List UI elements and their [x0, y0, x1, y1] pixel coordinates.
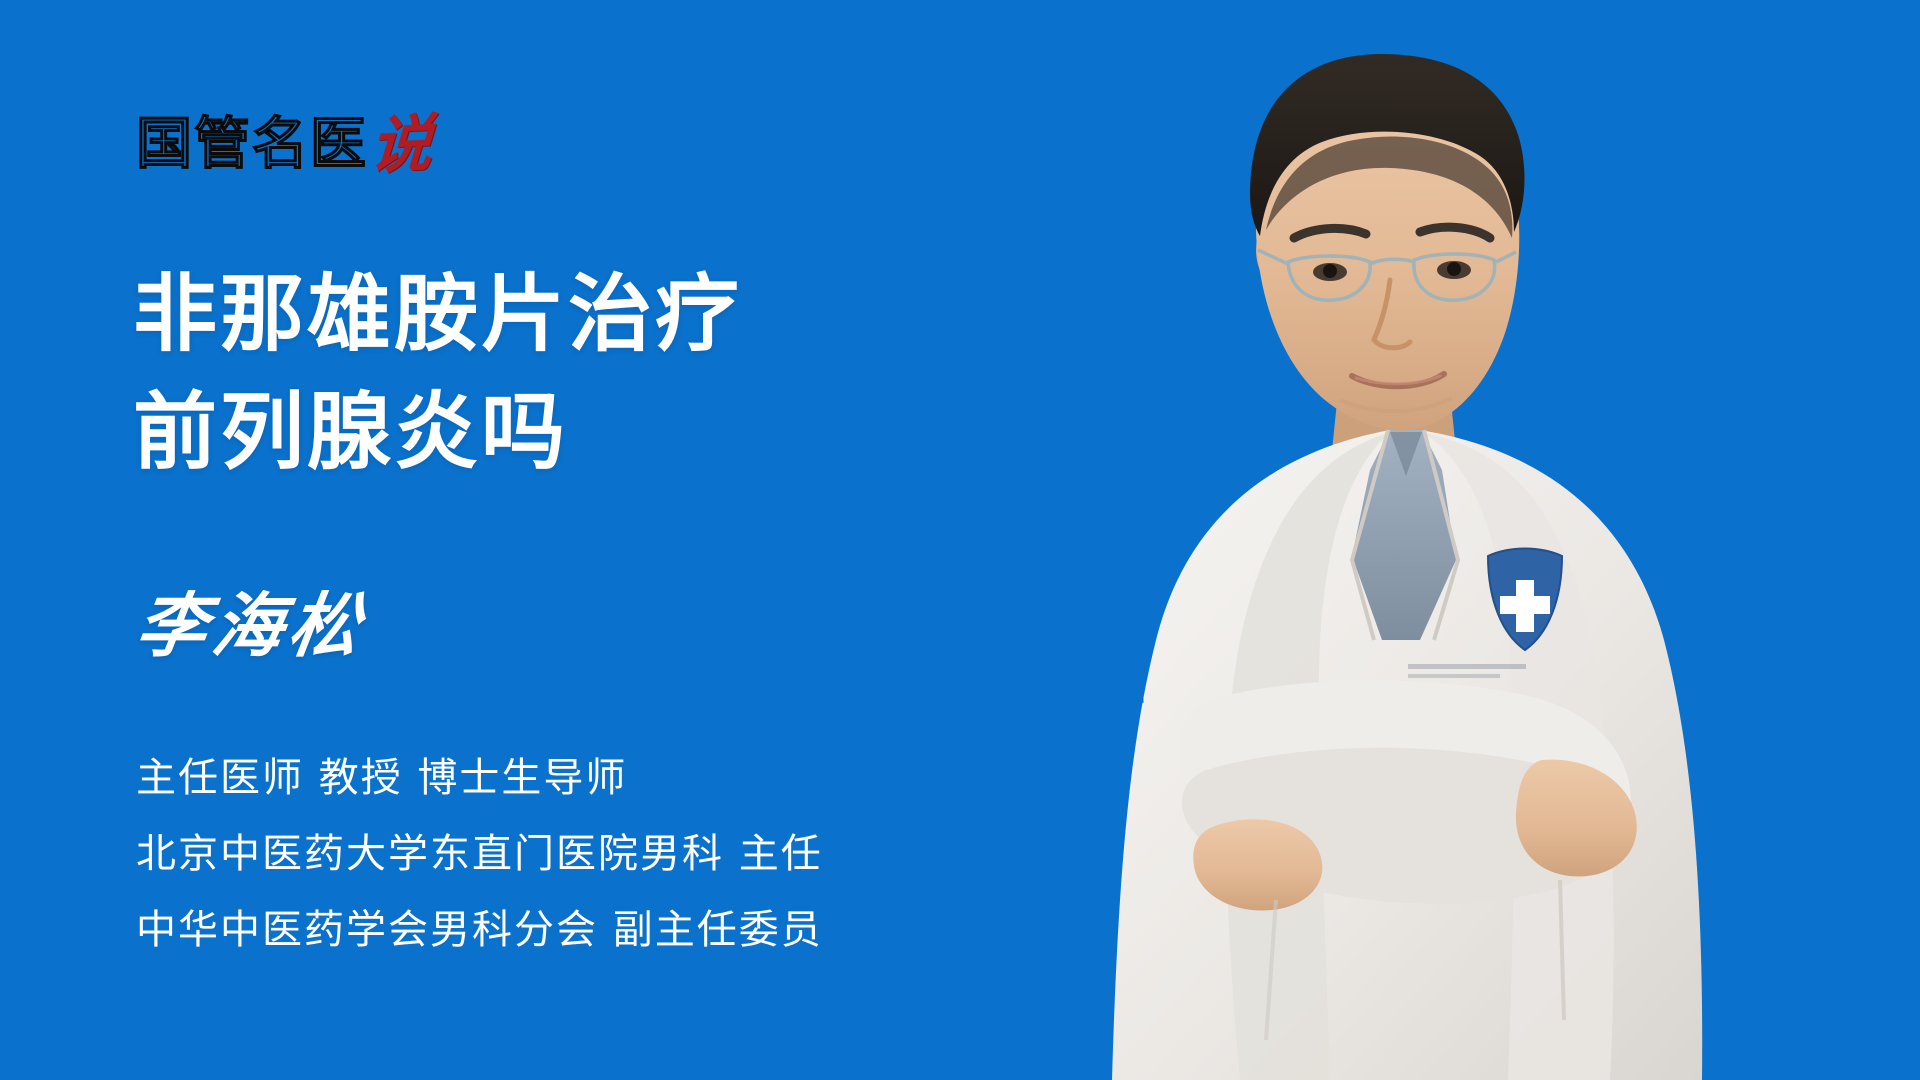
doctor-name: 李海松 [132, 588, 371, 664]
brand-logo-main-text: 国管名医 [136, 116, 368, 174]
page-title: 非那雄胺片治疗 前列腺炎吗 [133, 255, 742, 491]
page-title-line-1: 非那雄胺片治疗 [133, 255, 742, 373]
credential-line-2: 北京中医药大学东直门医院男科 主任 [136, 816, 823, 892]
credential-line-3: 中华中医药学会男科分会 副主任委员 [136, 892, 823, 968]
doctor-portrait [1090, 0, 1920, 1080]
page-title-line-2: 前列腺炎吗 [133, 373, 742, 491]
brand-logo: 国管名医 说 [136, 100, 432, 174]
brand-logo-accent-text: 说 [368, 114, 433, 175]
credential-line-1: 主任医师 教授 博士生导师 [136, 740, 823, 816]
doctor-portrait-illustration [1090, 0, 1920, 1080]
doctor-credentials: 主任医师 教授 博士生导师 北京中医药大学东直门医院男科 主任 中华中医药学会男… [136, 740, 823, 968]
poster-canvas: 国管名医 说 非那雄胺片治疗 前列腺炎吗 李海松 主任医师 教授 博士生导师 北… [0, 0, 1920, 1080]
